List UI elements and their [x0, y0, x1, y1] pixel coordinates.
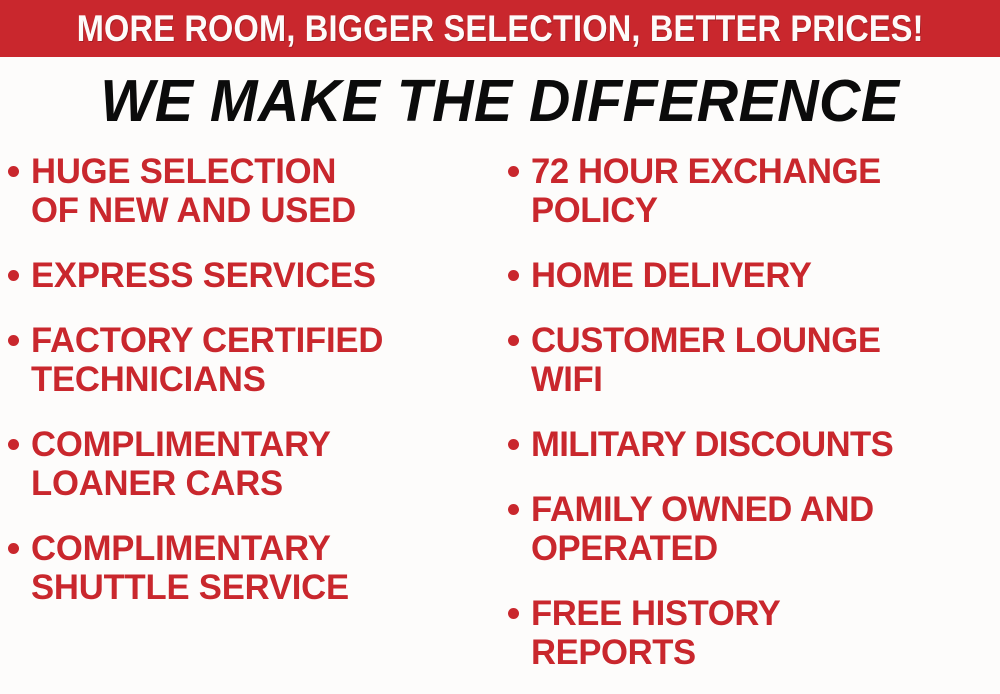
- list-item: EXPRESS SERVICES: [8, 256, 500, 295]
- bullet-dot-icon: [508, 270, 519, 281]
- list-item: COMPLIMENTARY LOANER CARS: [8, 425, 500, 503]
- bullet-dot-icon: [508, 335, 519, 346]
- list-item-label: HUGE SELECTION OF NEW AND USED: [31, 152, 356, 230]
- list-item: FAMILY OWNED AND OPERATED: [508, 490, 1000, 568]
- list-item-label: CUSTOMER LOUNGE WIFI: [531, 321, 881, 399]
- list-item: HOME DELIVERY: [508, 256, 1000, 295]
- list-item-label: HOME DELIVERY: [531, 256, 811, 295]
- list-item: COMPLIMENTARY SHUTTLE SERVICE: [8, 529, 500, 607]
- list-item-label: EXPRESS SERVICES: [31, 256, 376, 295]
- list-item-label: FREE HISTORY REPORTS: [531, 594, 780, 672]
- bullet-dot-icon: [508, 166, 519, 177]
- bullet-dot-icon: [8, 166, 19, 177]
- page-title: WE MAKE THE DIFFERENCE: [100, 72, 899, 131]
- benefits-column-left: HUGE SELECTION OF NEW AND USED EXPRESS S…: [8, 152, 500, 694]
- benefits-column-right: 72 HOUR EXCHANGE POLICY HOME DELIVERY CU…: [508, 152, 1000, 694]
- headline-container: WE MAKE THE DIFFERENCE: [0, 60, 1000, 142]
- bullet-dot-icon: [508, 439, 519, 450]
- list-item-label: MILITARY DISCOUNTS: [531, 425, 893, 464]
- list-item: FREE HISTORY REPORTS: [508, 594, 1000, 672]
- bullet-dot-icon: [8, 543, 19, 554]
- bullet-dot-icon: [508, 608, 519, 619]
- bullet-dot-icon: [8, 439, 19, 450]
- bullet-dot-icon: [8, 270, 19, 281]
- list-item-label: COMPLIMENTARY LOANER CARS: [31, 425, 331, 503]
- benefits-columns: HUGE SELECTION OF NEW AND USED EXPRESS S…: [0, 152, 1000, 694]
- top-banner: MORE ROOM, BIGGER SELECTION, BETTER PRIC…: [0, 0, 1000, 57]
- list-item: CUSTOMER LOUNGE WIFI: [508, 321, 1000, 399]
- list-item-label: COMPLIMENTARY SHUTTLE SERVICE: [31, 529, 349, 607]
- list-item: MILITARY DISCOUNTS: [508, 425, 1000, 464]
- bullet-dot-icon: [508, 504, 519, 515]
- promo-poster: MORE ROOM, BIGGER SELECTION, BETTER PRIC…: [0, 0, 1000, 694]
- list-item: HUGE SELECTION OF NEW AND USED: [8, 152, 500, 230]
- list-item-label: FACTORY CERTIFIED TECHNICIANS: [31, 321, 383, 399]
- list-item-label: 72 HOUR EXCHANGE POLICY: [531, 152, 881, 230]
- list-item: FACTORY CERTIFIED TECHNICIANS: [8, 321, 500, 399]
- banner-headline-text: MORE ROOM, BIGGER SELECTION, BETTER PRIC…: [77, 10, 924, 47]
- list-item-label: FAMILY OWNED AND OPERATED: [531, 490, 874, 568]
- bullet-dot-icon: [8, 335, 19, 346]
- list-item: 72 HOUR EXCHANGE POLICY: [508, 152, 1000, 230]
